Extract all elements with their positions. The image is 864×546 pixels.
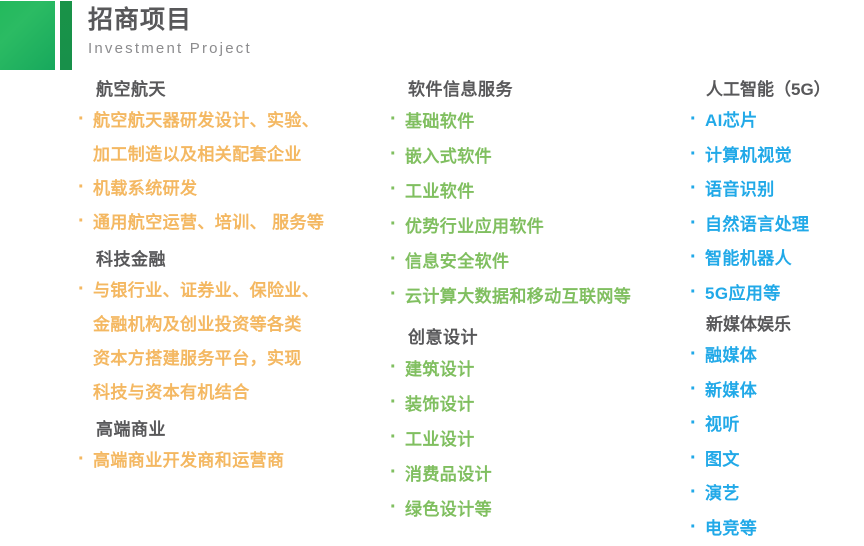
list-item: 工业软件	[390, 174, 686, 209]
header-titles: 招商项目 Investment Project	[88, 4, 252, 60]
list-item: 与银行业、证券业、保险业、 金融机构及创业投资等各类 资本方搭建服务平台，实现 …	[78, 274, 390, 410]
spacer	[390, 314, 686, 324]
list-item: 建筑设计	[390, 352, 686, 387]
list-item: 5G应用等	[690, 277, 864, 312]
group-software-information-services: 软件信息服务 基础软件 嵌入式软件 工业软件 优势行业应用软件 信息安全软件 云…	[390, 76, 686, 314]
group-item-list: 与银行业、证券业、保险业、 金融机构及创业投资等各类 资本方搭建服务平台，实现 …	[78, 274, 390, 410]
list-item: 通用航空运营、培训、 服务等	[78, 206, 390, 240]
logo-gradient-block	[0, 1, 55, 70]
list-item: AI芯片	[690, 104, 864, 139]
group-tech-finance: 科技金融 与银行业、证券业、保险业、 金融机构及创业投资等各类 资本方搭建服务平…	[78, 246, 390, 410]
group-item-list: 建筑设计 装饰设计 工业设计 消费品设计 绿色设计等	[390, 352, 686, 527]
content-column-2: 软件信息服务 基础软件 嵌入式软件 工业软件 优势行业应用软件 信息安全软件 云…	[390, 76, 686, 527]
list-item: 图文	[690, 443, 864, 478]
list-item: 装饰设计	[390, 387, 686, 422]
group-new-media-entertainment: 新媒体娱乐 融媒体 新媒体 视听 图文 演艺 电竞等	[690, 311, 864, 546]
page-subtitle: Investment Project	[88, 38, 252, 60]
list-item: 工业设计	[390, 422, 686, 457]
list-item: 电竞等	[690, 512, 864, 546]
list-item: 演艺	[690, 477, 864, 512]
group-heading: 高端商业	[78, 416, 390, 444]
list-item: 语音识别	[690, 173, 864, 208]
group-heading: 科技金融	[78, 246, 390, 274]
logo-accent-bar	[60, 1, 72, 70]
list-item: 融媒体	[690, 339, 864, 374]
list-item: 嵌入式软件	[390, 139, 686, 174]
list-item: 航空航天器研发设计、实验、 加工制造以及相关配套企业	[78, 104, 390, 172]
list-item: 绿色设计等	[390, 492, 686, 527]
list-item: 基础软件	[390, 104, 686, 139]
group-artificial-intelligence-5g: 人工智能（5G） AI芯片 计算机视觉 语音识别 自然语言处理 智能机器人 5G…	[690, 76, 864, 311]
list-item: 自然语言处理	[690, 208, 864, 243]
group-item-list: 融媒体 新媒体 视听 图文 演艺 电竞等	[690, 339, 864, 546]
group-creative-design: 创意设计 建筑设计 装饰设计 工业设计 消费品设计 绿色设计等	[390, 324, 686, 527]
list-item: 视听	[690, 408, 864, 443]
list-item: 新媒体	[690, 374, 864, 409]
group-heading: 航空航天	[78, 76, 390, 104]
group-heading: 新媒体娱乐	[690, 311, 864, 339]
list-item: 消费品设计	[390, 457, 686, 492]
group-heading: 软件信息服务	[390, 76, 686, 104]
page-header: 招商项目 Investment Project	[0, 0, 864, 72]
list-item: 云计算大数据和移动互联网等	[390, 279, 686, 314]
group-item-list: 高端商业开发商和运营商	[78, 444, 390, 478]
group-heading: 人工智能（5G）	[690, 76, 864, 104]
page-title: 招商项目	[88, 4, 252, 36]
list-item: 信息安全软件	[390, 244, 686, 279]
list-item: 智能机器人	[690, 242, 864, 277]
group-high-end-commerce: 高端商业 高端商业开发商和运营商	[78, 416, 390, 478]
group-item-list: AI芯片 计算机视觉 语音识别 自然语言处理 智能机器人 5G应用等	[690, 104, 864, 311]
list-item: 优势行业应用软件	[390, 209, 686, 244]
group-item-list: 航空航天器研发设计、实验、 加工制造以及相关配套企业 机载系统研发 通用航空运营…	[78, 104, 390, 240]
list-item: 高端商业开发商和运营商	[78, 444, 390, 478]
group-heading: 创意设计	[390, 324, 686, 352]
list-item: 计算机视觉	[690, 139, 864, 174]
content-column-3: 人工智能（5G） AI芯片 计算机视觉 语音识别 自然语言处理 智能机器人 5G…	[690, 76, 864, 546]
group-item-list: 基础软件 嵌入式软件 工业软件 优势行业应用软件 信息安全软件 云计算大数据和移…	[390, 104, 686, 314]
group-aerospace: 航空航天 航空航天器研发设计、实验、 加工制造以及相关配套企业 机载系统研发 通…	[78, 76, 390, 240]
content-column-1: 航空航天 航空航天器研发设计、实验、 加工制造以及相关配套企业 机载系统研发 通…	[78, 76, 390, 478]
list-item: 机载系统研发	[78, 172, 390, 206]
